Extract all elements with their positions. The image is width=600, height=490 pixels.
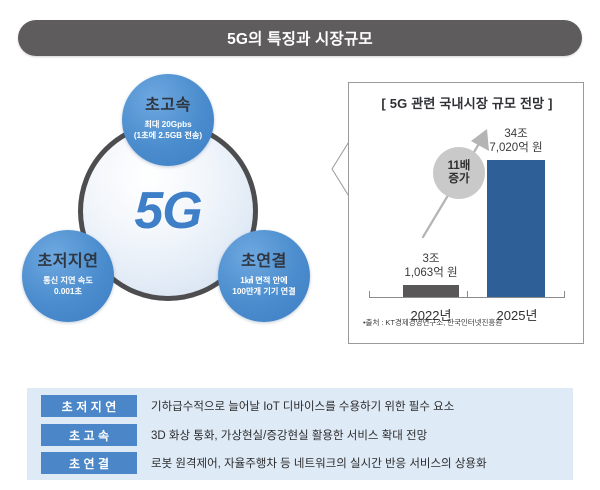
bubble-heading: 초저지연: [38, 253, 99, 271]
legend-row: 초연결 로봇 원격제어, 자율주행차 등 네트워크의 실시간 반응 서비스의 상…: [41, 452, 487, 474]
page-title: 5G의 특징과 시장규모: [227, 27, 373, 49]
bubble-line2: (1초에 2.5GB 전송): [134, 130, 202, 141]
bar-2022: [403, 285, 459, 297]
value-label-line2: 7,020억 원: [473, 141, 559, 155]
axis-tick-left: [369, 291, 370, 297]
bubble-line1: 통신 지연 속도: [43, 275, 93, 286]
bar-value-label-2022: 3조 1,063억 원: [389, 252, 473, 280]
bar-2025: [487, 160, 545, 297]
growth-word: 증가: [448, 173, 469, 186]
bar-value-label-2025: 34조 7,020억 원: [473, 127, 559, 155]
value-label-line1: 3조: [389, 252, 473, 266]
legend-tag: 초고속: [41, 424, 137, 446]
bubble-line2: 100만개 기기 연결: [232, 286, 295, 297]
legend-description: 로봇 원격제어, 자율주행차 등 네트워크의 실시간 반응 서비스의 상용화: [151, 455, 487, 471]
legend-tag: 초연결: [41, 452, 137, 474]
venn-bubble-ultra-connectivity: 초연결 1㎢ 면적 안에 100만개 기기 연결: [218, 230, 310, 322]
legend-description: 기하급수적으로 늘어날 IoT 디바이스를 수용하기 위한 필수 요소: [151, 398, 454, 414]
legend-row: 초고속 3D 화상 통화, 가상현실/증강현실 활용한 서비스 확대 전망: [41, 424, 427, 446]
value-label-line2: 1,063억 원: [389, 266, 473, 280]
market-forecast-chart: [ 5G 관련 국내시장 규모 전망 ] 11배 증가 3조 1,063억 원 …: [348, 82, 584, 344]
venn-diagram: 5G 초고속 최대 20Gpbs (1초에 2.5GB 전송) 초저지연 통신 …: [18, 78, 338, 353]
axis-tick-mid: [467, 291, 468, 297]
venn-bubble-ultra-high-speed: 초고속 최대 20Gpbs (1초에 2.5GB 전송): [122, 74, 214, 166]
chart-source-note: •출처 : KT경제경영연구소, 한국인터넷진흥원: [363, 317, 583, 328]
value-label-line1: 34조: [473, 127, 559, 141]
bubble-line1: 최대 20Gpbs: [144, 119, 191, 130]
callout-pointer-icon: [326, 140, 350, 198]
chart-x-axis: [369, 297, 565, 298]
infographic-root: 5G의 특징과 시장규모 5G 초고속 최대 20Gpbs (1초에 2.5GB…: [0, 0, 600, 490]
bubble-heading: 초고속: [145, 97, 191, 115]
legend-row: 초저지연 기하급수적으로 늘어날 IoT 디바이스를 수용하기 위한 필수 요소: [41, 395, 454, 417]
axis-tick-right: [564, 291, 565, 297]
bubble-line2: 0.001초: [54, 286, 82, 297]
legend-tag: 초저지연: [41, 395, 137, 417]
venn-bubble-ultra-low-latency: 초저지연 통신 지연 속도 0.001초: [22, 230, 114, 322]
chart-plot-area: 11배 증가 3조 1,063억 원 34조 7,020억 원 2022년 20…: [361, 119, 573, 301]
bubble-heading: 초연결: [241, 253, 287, 271]
growth-multiplier: 11배: [448, 160, 471, 173]
bubble-line1: 1㎢ 면적 안에: [240, 275, 287, 286]
feature-legend-panel: 초저지연 기하급수적으로 늘어날 IoT 디바이스를 수용하기 위한 필수 요소…: [27, 388, 573, 480]
page-title-bar: 5G의 특징과 시장규모: [18, 20, 582, 56]
legend-description: 3D 화상 통화, 가상현실/증강현실 활용한 서비스 확대 전망: [151, 427, 427, 443]
chart-title: [ 5G 관련 국내시장 규모 전망 ]: [349, 93, 585, 112]
